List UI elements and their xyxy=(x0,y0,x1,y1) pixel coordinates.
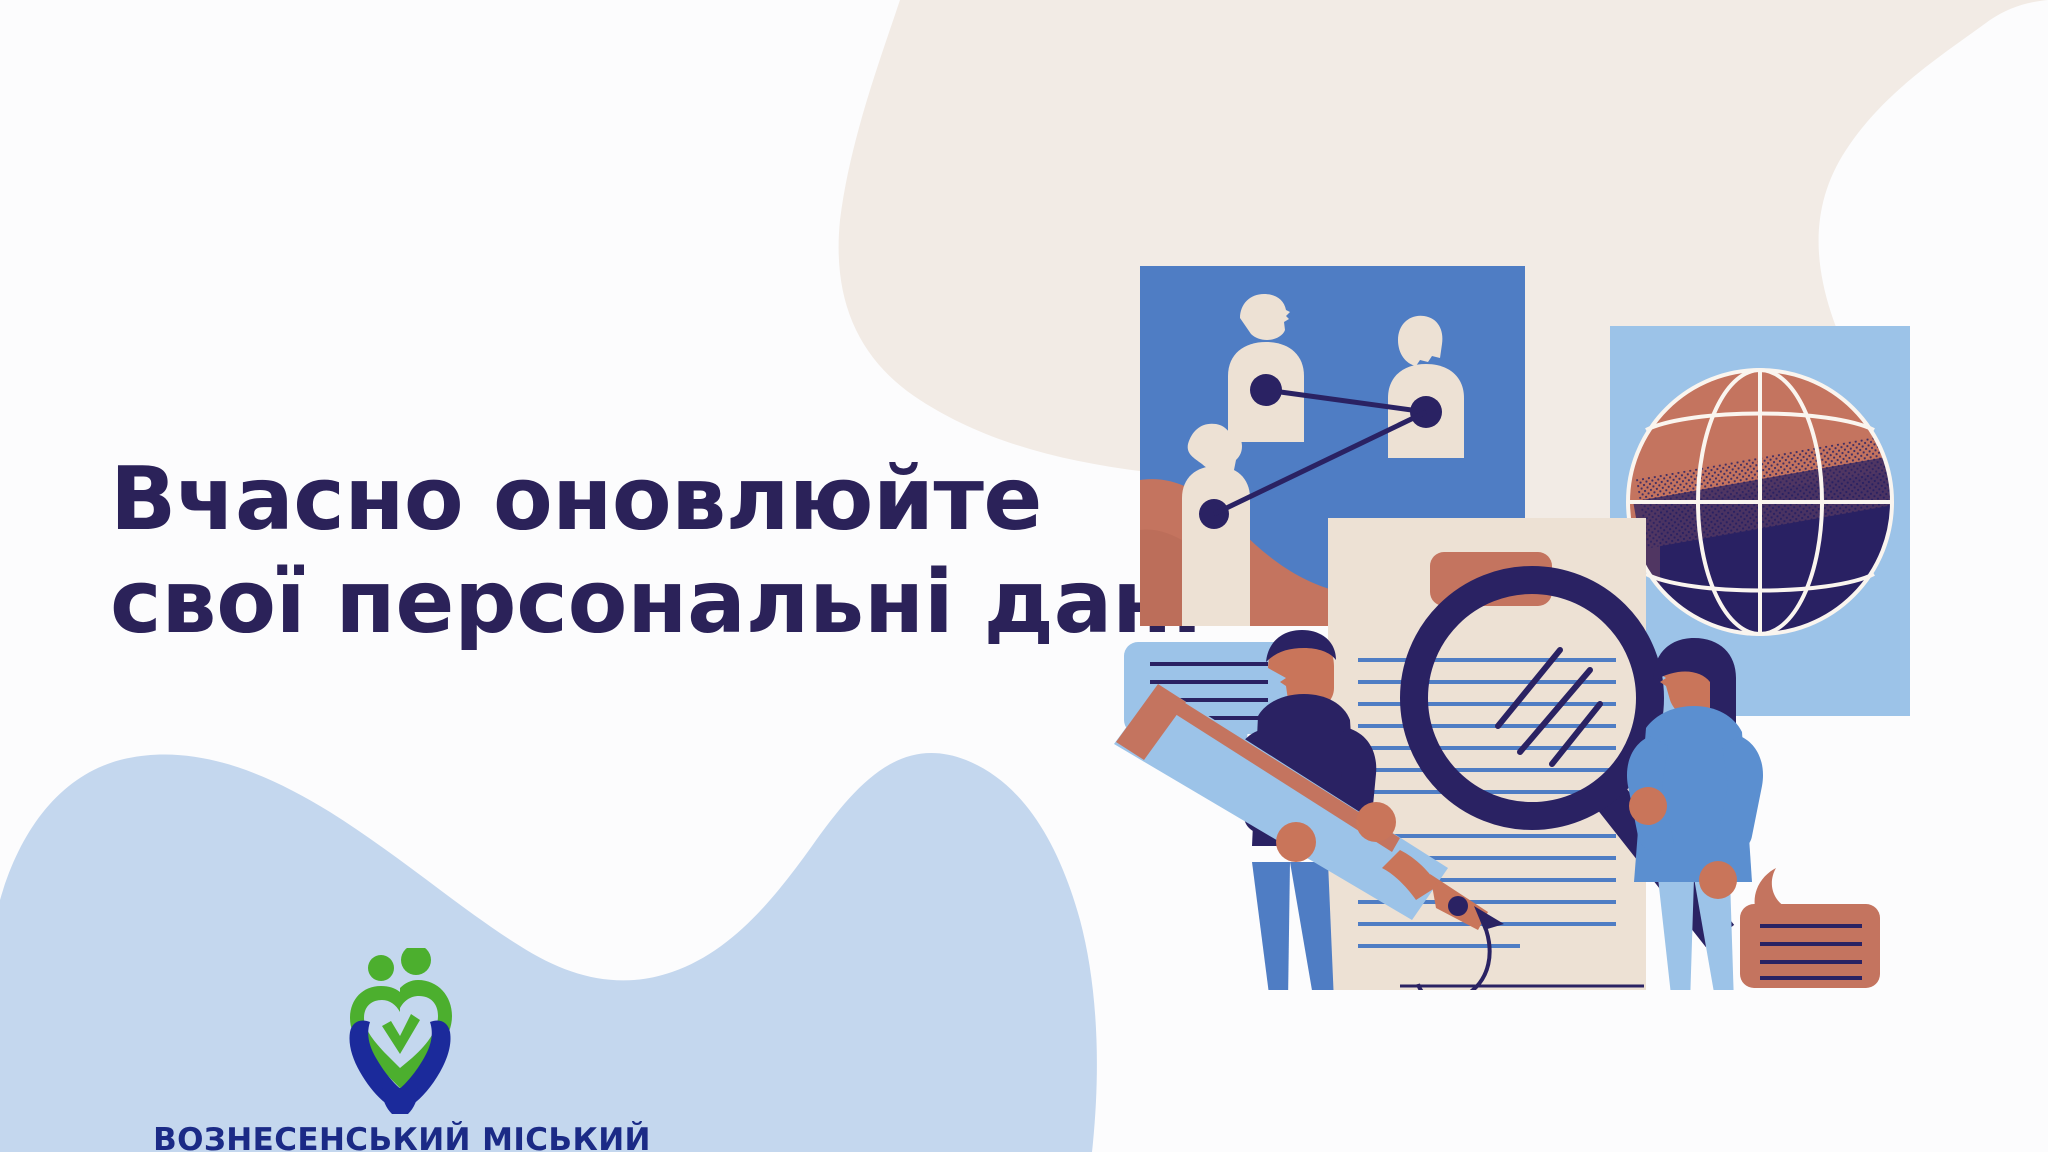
hand-lower xyxy=(1699,861,1737,899)
headline: Вчасно оновлюйте свої персональні дані xyxy=(110,448,1120,653)
organization-logo: ВОЗНЕСЕНСЬКИЙ МІСЬКИЙ ЦЕНТР ПМСД xyxy=(152,948,652,1152)
banner-canvas: Вчасно оновлюйте свої персональні дані xyxy=(0,0,2048,1152)
hand-upper xyxy=(1629,787,1667,825)
hand-left xyxy=(1276,822,1316,862)
logo-organization-name: ВОЗНЕСЕНСЬКИЙ МІСЬКИЙ xyxy=(152,1122,652,1152)
speech-bubble-right xyxy=(1740,868,1880,988)
hands-holding-family-heart-icon xyxy=(152,948,652,1116)
personal-data-update-illustration xyxy=(1100,230,2048,990)
headline-line-2: свої персональні дані xyxy=(110,551,1120,654)
headline-line-1: Вчасно оновлюйте xyxy=(110,448,1120,551)
hand-right xyxy=(1356,802,1396,842)
person-silhouette-3 xyxy=(1182,424,1250,626)
